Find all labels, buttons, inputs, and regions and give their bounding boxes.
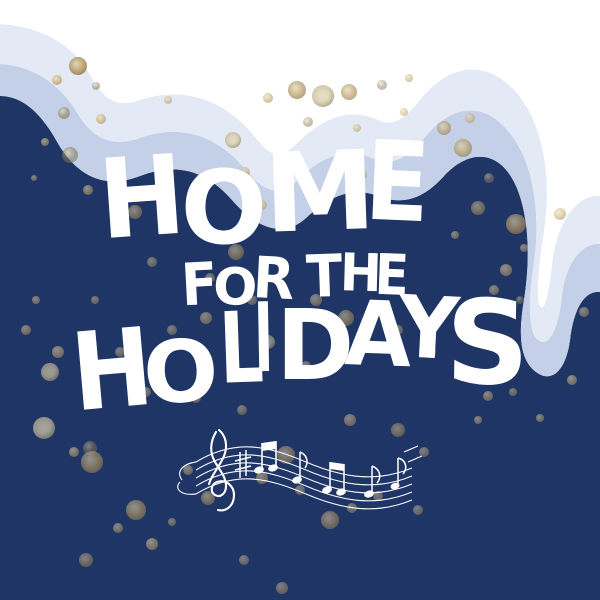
headline-letter: M bbox=[262, 135, 378, 248]
headline-letter: I bbox=[253, 290, 274, 386]
headline-block: HOME FOR THE HOLIDAYS bbox=[0, 0, 600, 600]
headline-letter: O bbox=[141, 327, 220, 416]
headline-letter: E bbox=[363, 127, 432, 239]
headline-letter: S bbox=[445, 284, 531, 402]
headline-letter: H bbox=[95, 140, 188, 256]
holiday-event-poster: HOME FOR THE HOLIDAYS Friday December 5t… bbox=[0, 0, 600, 600]
